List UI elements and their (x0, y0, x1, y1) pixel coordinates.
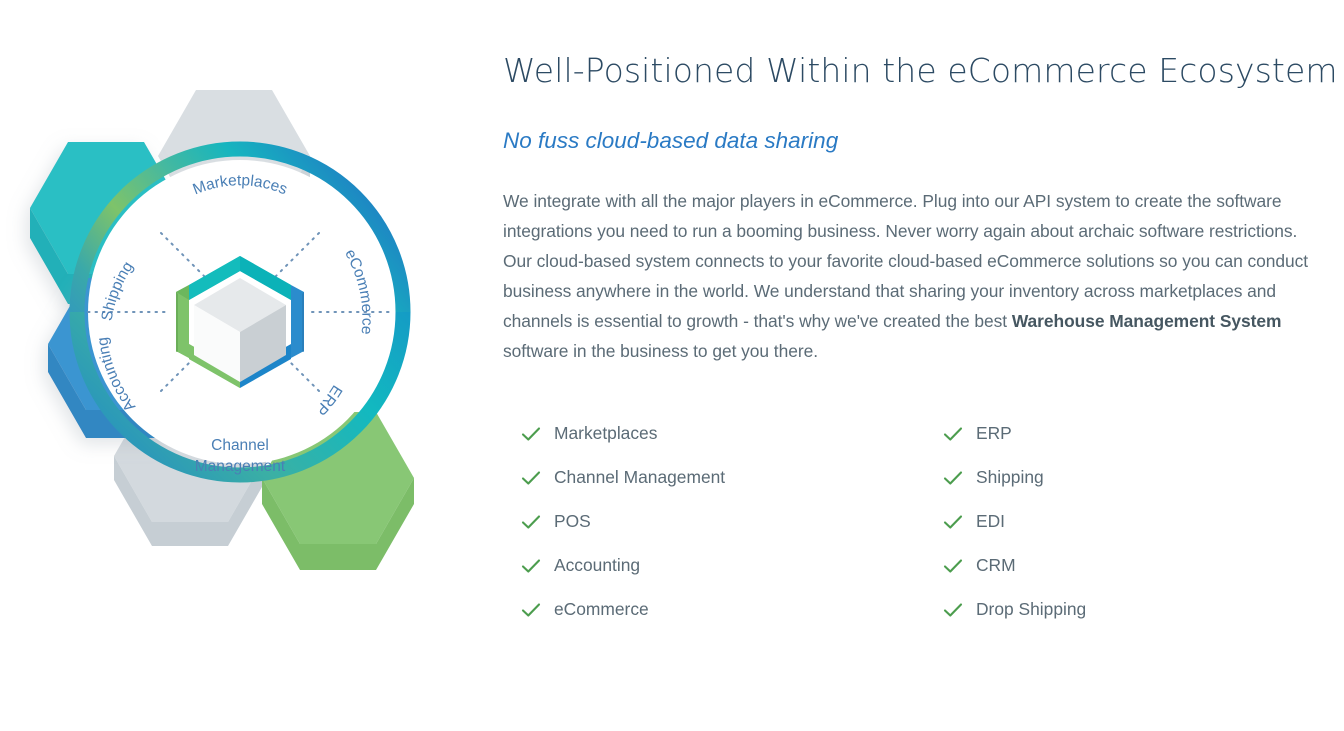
ecosystem-illustration: Marketplaces eCommerce ERP Shipping Acco… (0, 60, 480, 620)
list-item-label: Accounting (554, 557, 640, 574)
ecosystem-diagram-svg: Marketplaces eCommerce ERP Shipping Acco… (0, 60, 480, 620)
list-item[interactable]: Channel Management (518, 456, 940, 500)
page-subtitle: No fuss cloud-based data sharing (503, 127, 1323, 154)
check-icon (940, 553, 966, 579)
paragraph-part-2: software in the business to get you ther… (503, 341, 818, 361)
list-item[interactable]: CRM (940, 544, 1328, 588)
list-item[interactable]: Shipping (940, 456, 1328, 500)
list-item[interactable]: EDI (940, 500, 1328, 544)
list-item-label: Channel Management (554, 469, 725, 486)
list-item-label: Drop Shipping (976, 601, 1086, 618)
page-title: Well-Positioned Within the eCommerce Eco… (503, 50, 1323, 91)
list-item-label: Shipping (976, 469, 1044, 486)
check-icon (518, 421, 544, 447)
list-item-label: POS (554, 513, 591, 530)
list-item[interactable]: Drop Shipping (940, 588, 1328, 632)
check-icon (518, 465, 544, 491)
check-icon (940, 465, 966, 491)
content-column: Well-Positioned Within the eCommerce Eco… (503, 50, 1323, 366)
cube-wing-right-edge (302, 292, 304, 352)
list-item[interactable]: Accounting (518, 544, 940, 588)
list-item-label: CRM (976, 557, 1016, 574)
list-item[interactable]: Marketplaces (518, 412, 940, 456)
check-icon (518, 509, 544, 535)
list-item-label: ERP (976, 425, 1012, 442)
check-icon (940, 421, 966, 447)
list-item-label: eCommerce (554, 601, 649, 618)
wheel-label-channel-line2: Management (195, 458, 286, 475)
wheel-label-channel-line1: Channel (211, 437, 269, 454)
check-icon (940, 597, 966, 623)
page-root: Marketplaces eCommerce ERP Shipping Acco… (0, 0, 1344, 731)
check-icon (518, 553, 544, 579)
check-icon (940, 509, 966, 535)
check-icon (518, 597, 544, 623)
cube-wing-left-edge (176, 292, 178, 352)
list-item[interactable]: POS (518, 500, 940, 544)
list-item[interactable]: eCommerce (518, 588, 940, 632)
list-item-label: Marketplaces (554, 425, 657, 442)
paragraph-emphasis: Warehouse Management System (1012, 311, 1282, 331)
list-item[interactable]: ERP (940, 412, 1328, 456)
list-item-label: EDI (976, 513, 1005, 530)
feature-checklist: Marketplaces Channel Management POS Acco… (518, 412, 1328, 632)
body-paragraph: We integrate with all the major players … (503, 186, 1315, 366)
